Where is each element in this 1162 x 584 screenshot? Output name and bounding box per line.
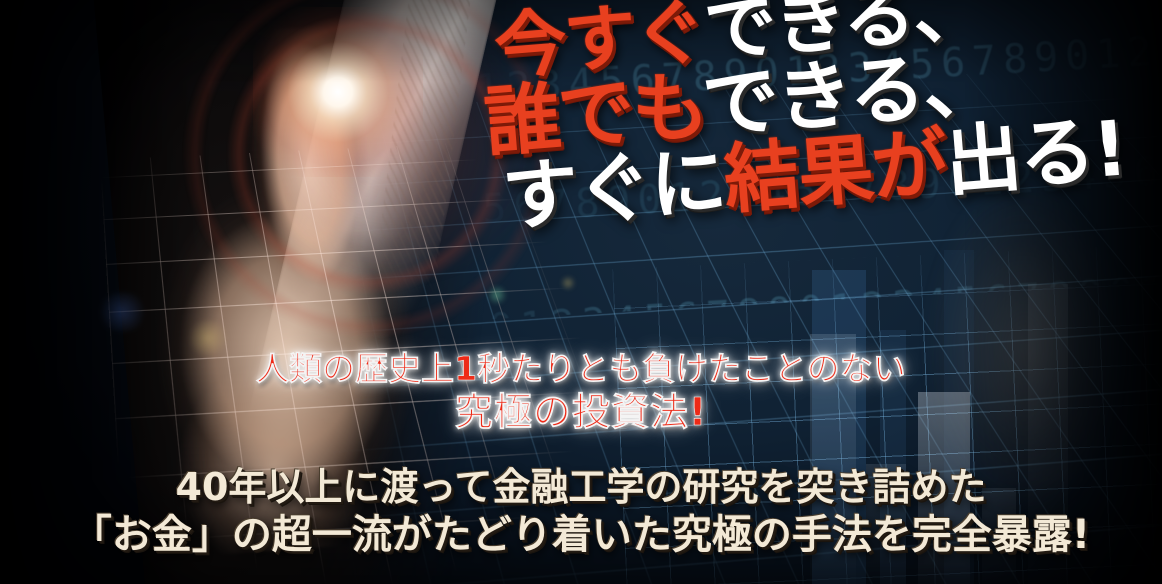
headline-line-3-white-b: 出る! bbox=[942, 103, 1129, 206]
lead-copy-line-2: 「お金」の超一流がたどり着いた究極の手法を完全暴露! bbox=[72, 515, 1090, 555]
promo-banner: 1234567890123456789012345678901234567890… bbox=[0, 0, 1162, 584]
subheadline-line-1: 人類の歴史上1秒たりとも負けたことのない bbox=[256, 352, 906, 385]
subheadline-line-2: 究極の投資法! bbox=[256, 393, 906, 431]
lead-copy-line-1: 40年以上に渡って金融工学の研究を突き詰めた bbox=[72, 468, 1090, 506]
lead-copy: 40年以上に渡って金融工学の研究を突き詰めた 「お金」の超一流がたどり着いた究極… bbox=[72, 468, 1090, 555]
subheadline: 人類の歴史上1秒たりとも負けたことのない 究極の投資法! bbox=[256, 352, 906, 431]
headline-line-3-white-a: すぐに bbox=[499, 136, 727, 243]
headline-line-3-red: 結果が bbox=[721, 118, 949, 225]
